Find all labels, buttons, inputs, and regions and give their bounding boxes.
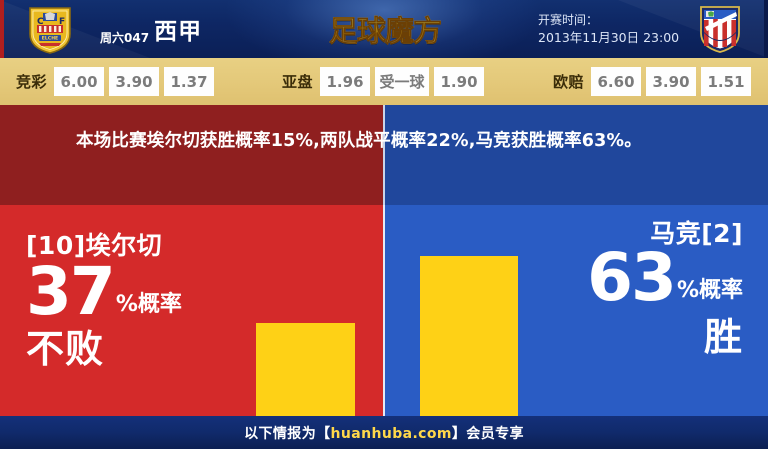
footer-bar: 以下情报为【huanhuba.com】会员专享 bbox=[0, 416, 768, 449]
home-percent-suffix: %概率 bbox=[116, 294, 182, 325]
home-percent-row: 37 %概率 bbox=[26, 259, 182, 325]
league-block: 周六047西甲 bbox=[100, 12, 202, 46]
bar-home-probability bbox=[256, 323, 355, 416]
kickoff-block: 开赛时间： 2013年11月30日 23:00 bbox=[538, 12, 679, 46]
away-percent-value: 63 bbox=[587, 245, 675, 311]
footer-suffix: 】会员专享 bbox=[452, 426, 524, 442]
away-percent-row: 63 %概率 bbox=[587, 245, 743, 311]
odds-group-oupei: 欧赔 6.60 3.90 1.51 bbox=[553, 67, 751, 96]
probability-notice-banner: 本场比赛埃尔切获胜概率15%,两队战平概率22%,马竞获胜概率63%。 bbox=[0, 105, 768, 205]
footer-notice: 以下情报为【huanhuba.com】会员专享 bbox=[244, 423, 524, 443]
away-outcome-label: 胜 bbox=[587, 317, 743, 357]
header-edge-left bbox=[0, 0, 4, 58]
odds-label-jingcai: 竞彩 bbox=[16, 71, 47, 92]
kickoff-label: 开赛时间： bbox=[538, 12, 679, 29]
odds-bar: 竞彩 6.00 3.90 1.37 亚盘 1.96 受一球 1.90 欧赔 6.… bbox=[0, 58, 768, 105]
odds-cell-jingcai-3[interactable]: 1.37 bbox=[164, 67, 214, 96]
brand-logo-text: 足球魔方 bbox=[329, 8, 441, 50]
home-percent-value: 37 bbox=[26, 259, 114, 325]
footer-prefix: 以下情报为【 bbox=[244, 426, 330, 442]
footer-domain[interactable]: huanhuba.com bbox=[331, 426, 452, 442]
odds-cell-yapan-handicap[interactable]: 受一球 bbox=[375, 67, 429, 96]
kickoff-time: 2013年11月30日 23:00 bbox=[538, 29, 679, 46]
notice-text: 本场比赛埃尔切获胜概率15%,两队战平概率22%,马竞获胜概率63%。 bbox=[76, 127, 712, 156]
odds-cell-oupei-1[interactable]: 6.60 bbox=[591, 67, 641, 96]
chart-divider bbox=[383, 205, 385, 416]
round-number: 周六047 bbox=[100, 31, 149, 45]
probability-bar-chart: [10]埃尔切 37 %概率 不败 马竞[2] 63 %概率 胜 bbox=[0, 205, 768, 416]
bar-away-probability bbox=[420, 256, 518, 416]
odds-cell-yapan-1[interactable]: 1.96 bbox=[320, 67, 370, 96]
odds-label-oupei: 欧赔 bbox=[553, 71, 584, 92]
match-probability-infographic: C F ELCHE 周六047西甲 足球魔方 开赛时间： 2013年11月30日… bbox=[0, 0, 768, 449]
odds-group-jingcai: 竞彩 6.00 3.90 1.37 bbox=[16, 67, 214, 96]
odds-cell-jingcai-2[interactable]: 3.90 bbox=[109, 67, 159, 96]
header-bar: C F ELCHE 周六047西甲 足球魔方 开赛时间： 2013年11月30日… bbox=[0, 0, 768, 58]
odds-group-yapan: 亚盘 1.96 受一球 1.90 bbox=[282, 67, 484, 96]
odds-cell-oupei-2[interactable]: 3.90 bbox=[646, 67, 696, 96]
odds-cell-oupei-3[interactable]: 1.51 bbox=[701, 67, 751, 96]
home-team-summary: [10]埃尔切 37 %概率 不败 bbox=[26, 205, 182, 369]
brand-logo[interactable]: 足球魔方 bbox=[326, 8, 444, 50]
away-percent-suffix: %概率 bbox=[677, 280, 743, 311]
home-team-crest-icon: C F ELCHE bbox=[26, 4, 74, 54]
away-team-summary: 马竞[2] 63 %概率 胜 bbox=[587, 205, 743, 357]
odds-label-yapan: 亚盘 bbox=[282, 71, 313, 92]
header-edge-right bbox=[764, 0, 768, 58]
away-team-crest-icon bbox=[696, 4, 744, 54]
odds-cell-yapan-3[interactable]: 1.90 bbox=[434, 67, 484, 96]
home-outcome-label: 不败 bbox=[26, 329, 182, 369]
svg-text:ELCHE: ELCHE bbox=[42, 36, 58, 42]
league-name: 西甲 bbox=[154, 19, 202, 45]
odds-cell-jingcai-1[interactable]: 6.00 bbox=[54, 67, 104, 96]
